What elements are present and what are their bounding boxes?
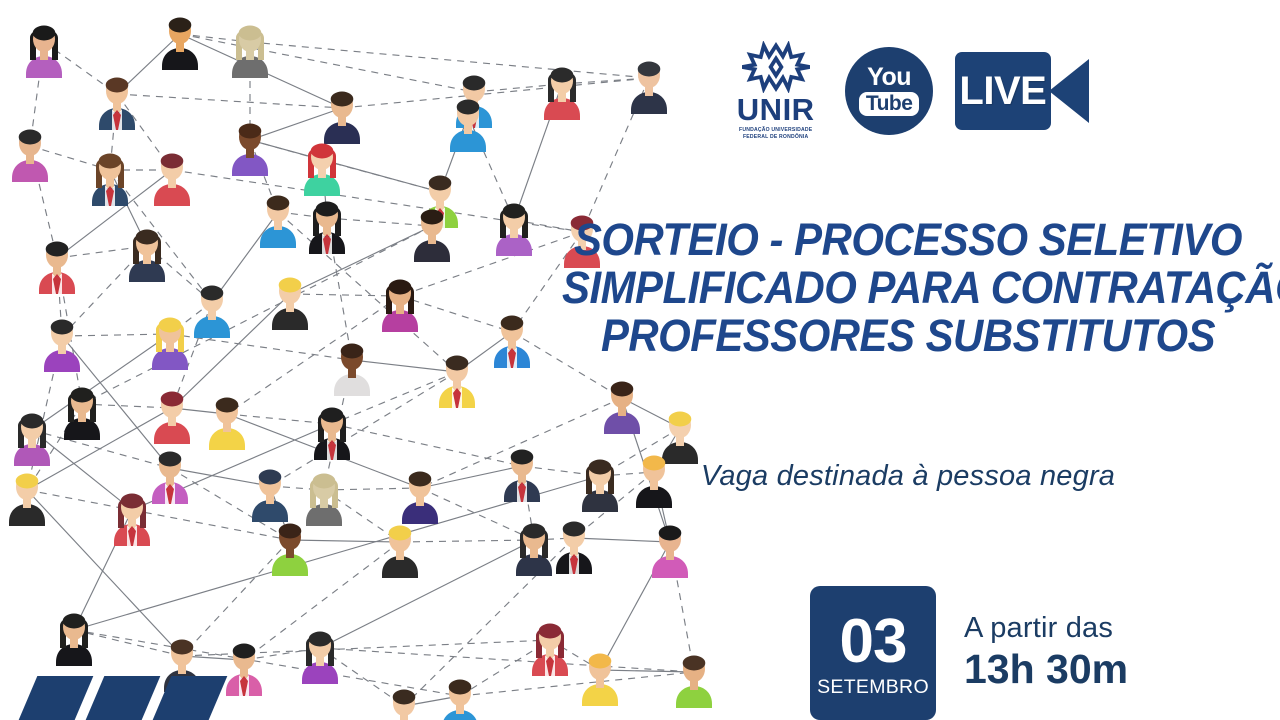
avatar-hair-cap [161, 392, 184, 407]
avatar-hair-cap [669, 412, 692, 427]
avatar-hair-cap [389, 526, 412, 541]
avatar [582, 654, 618, 707]
avatar-hair-cap [523, 524, 546, 539]
network-edge [352, 360, 457, 372]
avatar-hair-cap [316, 202, 339, 217]
avatar-hair-cap [659, 526, 682, 541]
avatar [154, 392, 190, 445]
network-nodes [9, 18, 712, 720]
corner-slash-1 [19, 676, 94, 720]
avatar-hair-cap [563, 522, 586, 537]
avatar-hair-cap [171, 640, 194, 655]
network-edge [290, 294, 400, 296]
avatar [516, 524, 552, 577]
network-edge [460, 672, 694, 696]
avatar-hair-cap [463, 76, 486, 91]
avatar-hair-cap [309, 632, 332, 647]
avatar-hair-cap [136, 230, 159, 245]
network-edge [327, 218, 432, 226]
network-edge [227, 414, 332, 424]
avatar-hair-cap [551, 68, 574, 83]
avatar [64, 388, 100, 441]
page-subtitle: Vaga destinada à pessoa negra [536, 460, 1280, 493]
avatar [129, 230, 165, 283]
avatar-hair-cap [449, 680, 472, 695]
page-title: SORTEIO - PROCESSO SELETIVO SIMPLIFICADO… [536, 216, 1280, 360]
avatar-hair-cap [511, 450, 534, 465]
avatar-hair-cap [429, 176, 452, 191]
avatar-hair-cap [121, 494, 144, 509]
avatar [382, 280, 418, 333]
network-edge [32, 334, 170, 430]
unir-star-emblem-icon [737, 41, 815, 93]
avatar [496, 204, 532, 257]
avatar [306, 474, 342, 527]
avatar-hair-cap [501, 316, 524, 331]
event-time: A partir das 13h 30m [964, 586, 1128, 693]
avatar [334, 344, 370, 397]
network-edge [62, 334, 170, 336]
avatar [631, 62, 667, 115]
avatar-hair-cap [279, 278, 302, 293]
avatar [314, 408, 350, 461]
avatar-hair-cap [259, 470, 282, 485]
avatar [209, 398, 245, 451]
avatar-hair-cap [321, 408, 344, 423]
network-edge [32, 430, 132, 510]
avatar [12, 130, 48, 183]
avatar [402, 472, 438, 525]
avatar-hair-cap [233, 644, 256, 659]
poster-canvas: UNIR FUNDAÇÃO UNIVERSIDADE FEDERAL DE RO… [0, 0, 1280, 720]
avatar [44, 320, 80, 373]
avatar [676, 656, 712, 709]
network-edge [27, 408, 172, 490]
avatar [272, 278, 308, 331]
avatar-hair-cap [239, 26, 262, 41]
avatar-hair-cap [409, 472, 432, 487]
network-edge [182, 540, 290, 656]
live-badge: LIVE [955, 52, 1088, 130]
avatar [544, 68, 580, 121]
network-edge [320, 540, 534, 648]
avatar [442, 680, 478, 720]
corner-slash-3 [153, 676, 228, 720]
avatar-hair-cap [539, 624, 562, 639]
avatar-hair-cap [683, 656, 706, 671]
avatar [652, 526, 688, 579]
avatar [26, 26, 62, 79]
corner-slash-2 [86, 676, 161, 720]
avatar [152, 318, 188, 371]
avatar-hair-cap [421, 210, 444, 225]
corner-slashes [28, 676, 218, 720]
date-badge: 03 SETEMBRO [810, 586, 936, 720]
network-edge [212, 212, 278, 302]
avatar [260, 196, 296, 249]
avatar-hair-cap [21, 414, 44, 429]
avatar [302, 632, 338, 685]
avatar-hair-cap [239, 124, 262, 139]
unir-logo: UNIR FUNDAÇÃO UNIVERSIDADE FEDERAL DE RO… [728, 41, 823, 141]
network-edge [400, 540, 534, 542]
avatar [232, 124, 268, 177]
avatar [39, 242, 75, 295]
network-edges [27, 34, 694, 706]
avatar-hair-cap [393, 690, 416, 705]
network-edge [290, 540, 400, 542]
headline-line-1: SORTEIO - PROCESSO SELETIVO [562, 216, 1254, 264]
avatar-hair-cap [201, 286, 224, 301]
avatar [232, 26, 268, 79]
avatar-hair-cap [33, 26, 56, 41]
avatar-hair-cap [446, 356, 469, 371]
avatar [92, 154, 128, 207]
video-camera-lens-icon [1049, 59, 1089, 123]
avatar [226, 644, 262, 697]
network-edge [324, 488, 420, 490]
avatar-hair-cap [216, 398, 239, 413]
avatar [556, 522, 592, 575]
avatar [272, 524, 308, 577]
avatar-hair-cap [331, 92, 354, 107]
avatar-hair-cap [638, 62, 661, 77]
network-edge [320, 648, 694, 672]
date-month: SETEMBRO [817, 678, 929, 698]
time-value: 13h 30m [964, 647, 1128, 693]
avatar-hair-cap [99, 154, 122, 169]
network-edge [600, 670, 694, 672]
avatar [604, 382, 640, 435]
avatar [114, 494, 150, 547]
avatar-hair-cap [341, 344, 364, 359]
avatar-hair-cap [63, 614, 86, 629]
avatar [504, 450, 540, 503]
network-edge [74, 630, 182, 656]
unir-subtitle: FUNDAÇÃO UNIVERSIDADE FEDERAL DE RONDÔNI… [730, 127, 822, 141]
logo-row: UNIR FUNDAÇÃO UNIVERSIDADE FEDERAL DE RO… [728, 42, 1088, 140]
avatar-hair-cap [503, 204, 526, 219]
avatar [252, 470, 288, 523]
network-edge [290, 226, 432, 294]
avatar-hair-cap [169, 18, 192, 33]
avatar-hair-cap [51, 320, 74, 335]
unir-subtitle-line2: FEDERAL DE RONDÔNIA [730, 134, 822, 141]
event-date-time-block: 03 SETEMBRO A partir das 13h 30m [810, 586, 1128, 720]
network-edge [332, 424, 522, 466]
network-edge [180, 34, 474, 92]
network-edge [172, 294, 290, 408]
headline-line-2: SIMPLIFICADO PARA CONTRATAÇÃO DE [562, 264, 1254, 312]
network-edge [420, 466, 522, 488]
avatar-hair-cap [589, 654, 612, 669]
avatar [56, 614, 92, 667]
avatar-hair-cap [313, 474, 336, 489]
network-edge [227, 296, 400, 414]
avatar-hair-cap [159, 452, 182, 467]
youtube-icon[interactable]: You Tube [845, 47, 932, 135]
youtube-tube-box: Tube [859, 92, 920, 116]
avatar-hair-cap [71, 388, 94, 403]
video-camera-icon-body: LIVE [955, 52, 1051, 130]
avatar-hair-cap [279, 524, 302, 539]
network-edge [574, 538, 670, 542]
avatar [309, 202, 345, 255]
date-day: 03 [840, 613, 907, 672]
avatar-hair-cap [16, 474, 39, 489]
network-edge [342, 78, 649, 108]
avatar-hair-cap [106, 78, 129, 93]
avatar [532, 624, 568, 677]
avatar [152, 452, 188, 505]
avatar-hair-cap [311, 144, 334, 159]
avatar [162, 18, 198, 71]
headline-line-3: PROFESSORES SUBSTITUTOS [562, 312, 1254, 360]
avatar-hair-cap [161, 154, 184, 169]
avatar-hair-cap [611, 382, 634, 397]
avatar [304, 144, 340, 197]
youtube-you-text: You [867, 66, 911, 90]
youtube-tube-text: Tube [866, 93, 913, 114]
network-edge [117, 94, 342, 108]
avatar-hair-cap [19, 130, 42, 145]
avatar-hair-cap [46, 242, 69, 257]
avatar-hair-cap [159, 318, 182, 333]
avatar-hair-cap [267, 196, 290, 211]
avatar [324, 92, 360, 145]
unir-subtitle-line1: FUNDAÇÃO UNIVERSIDADE [730, 127, 822, 134]
unir-wordmark: UNIR [737, 94, 815, 125]
avatar [662, 412, 698, 465]
avatar [9, 474, 45, 527]
live-label: LIVE [959, 71, 1046, 111]
avatar-hair-cap [389, 280, 412, 295]
avatar [99, 78, 135, 131]
avatar-hair-cap [457, 100, 480, 115]
time-lead-label: A partir das [964, 612, 1128, 645]
